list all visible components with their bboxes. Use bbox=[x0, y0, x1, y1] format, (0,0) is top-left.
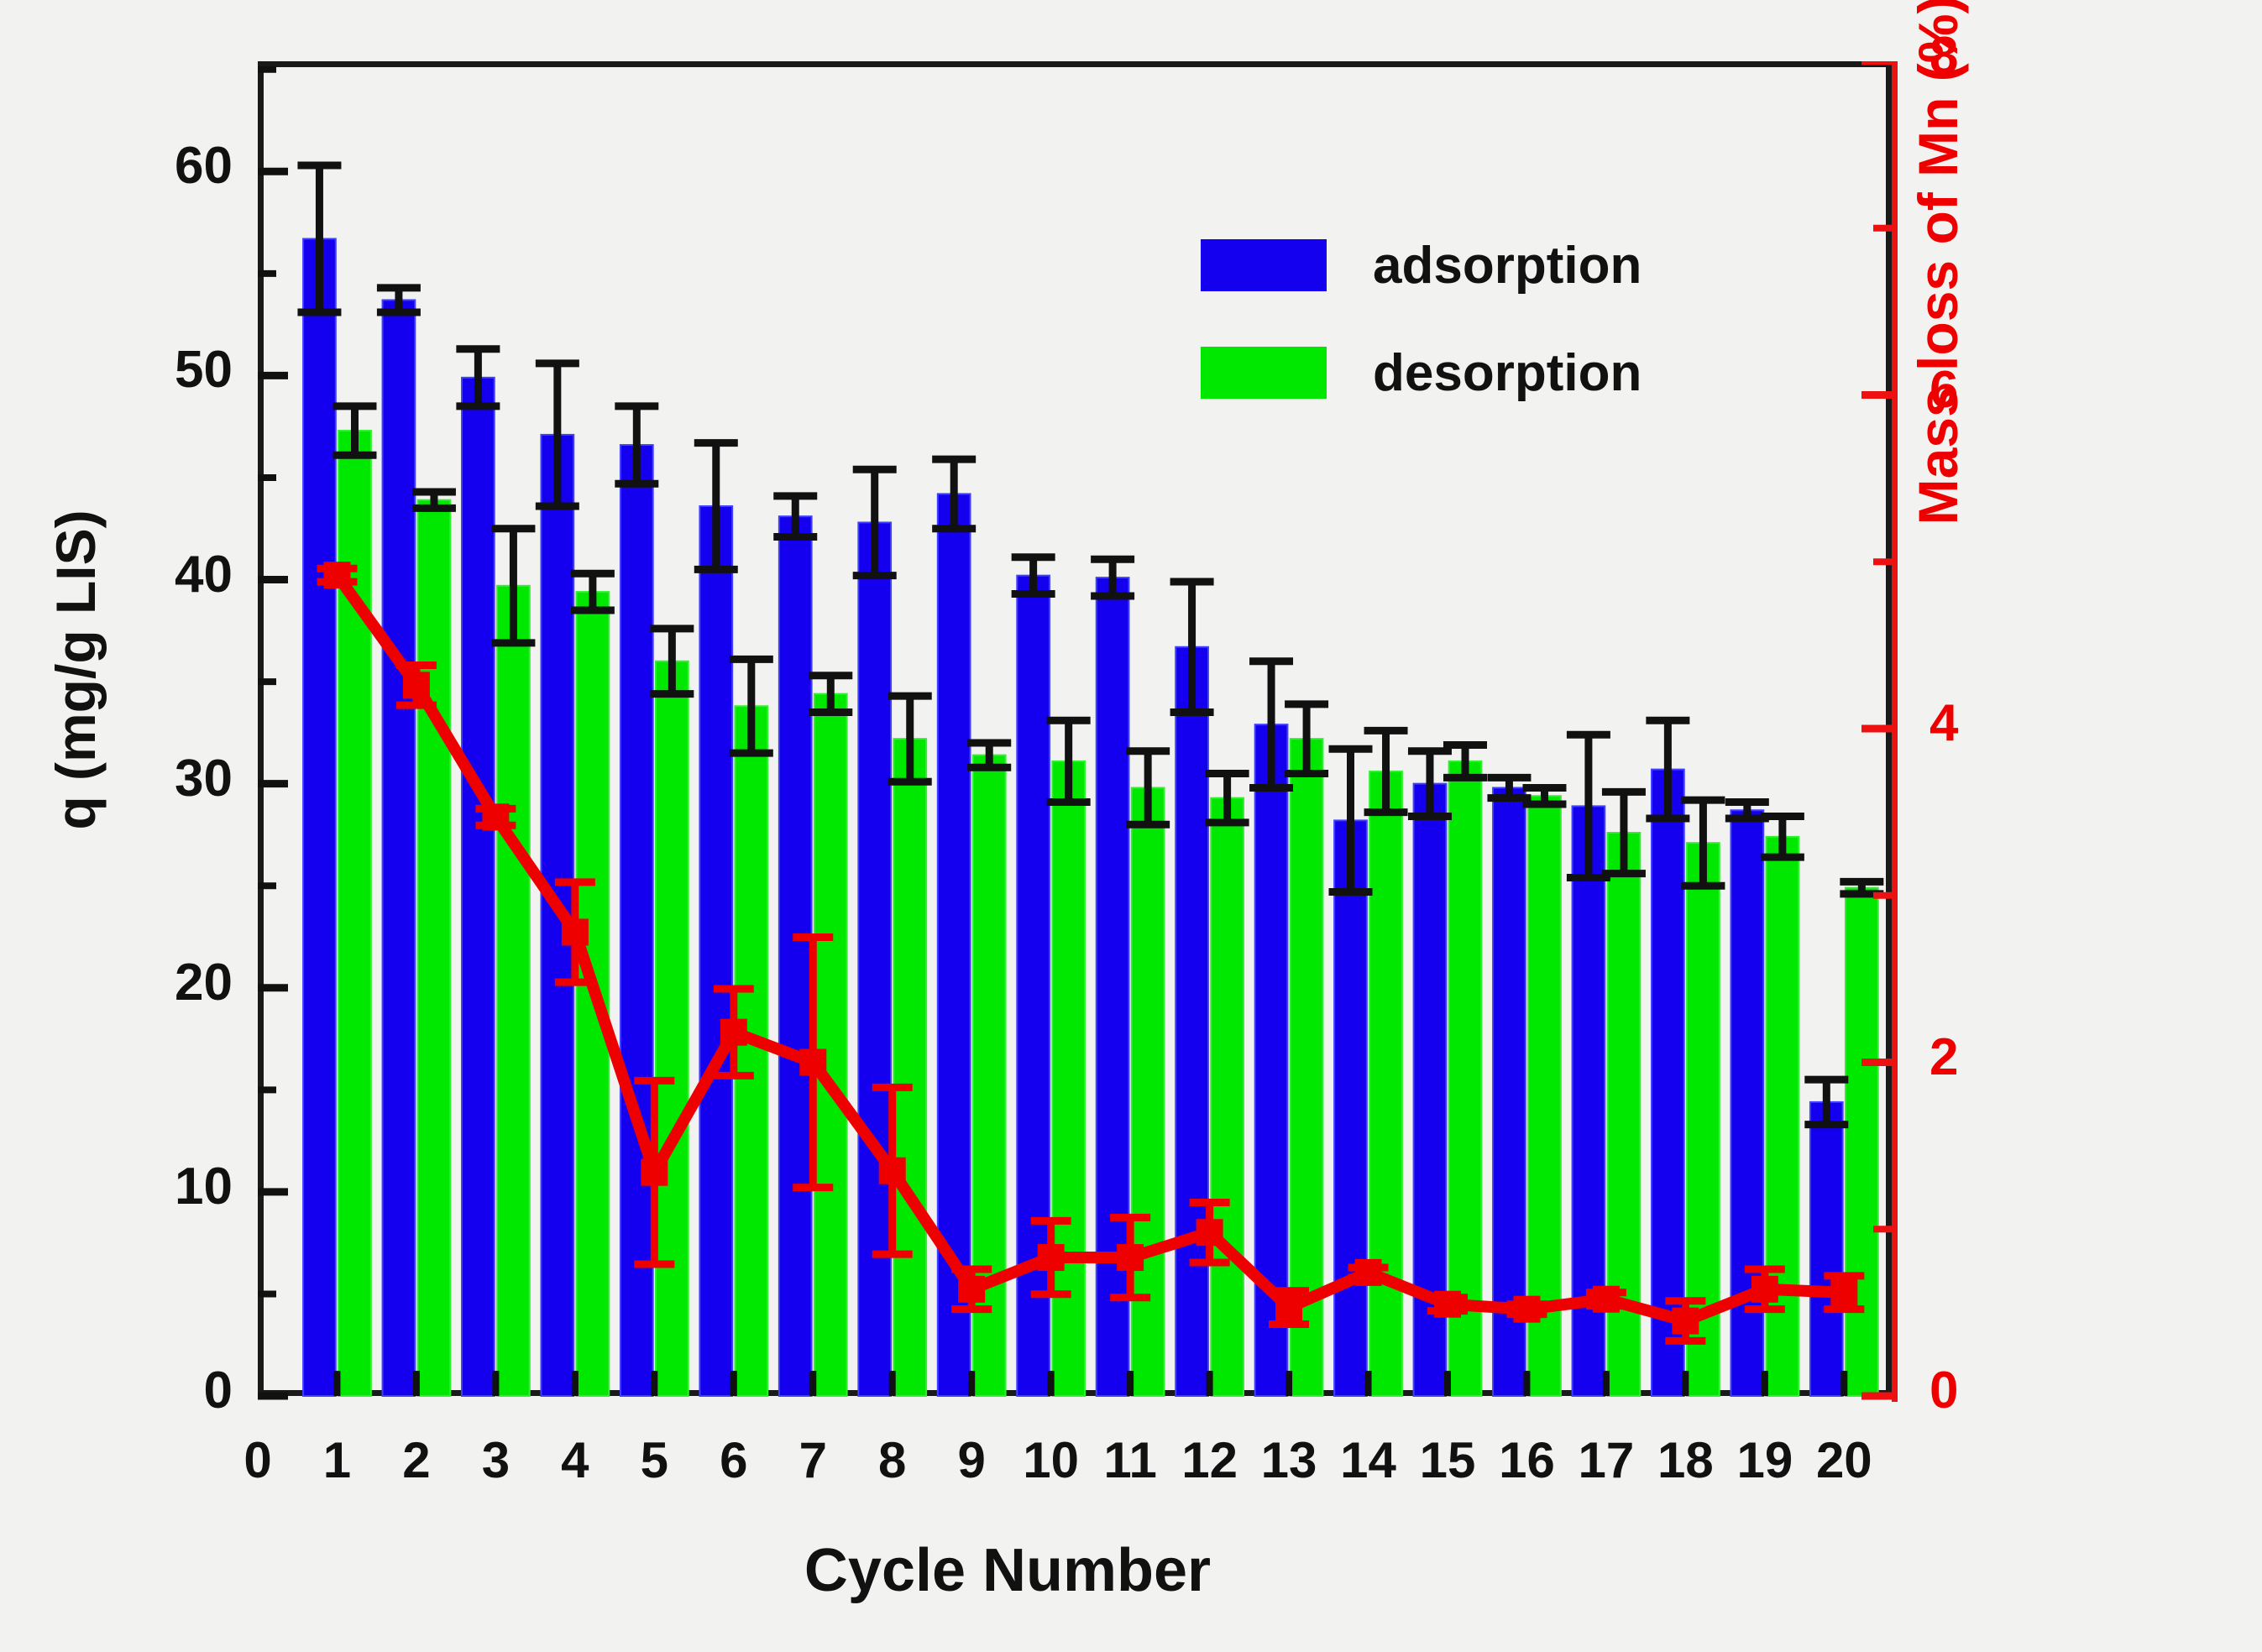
marker-mass-loss-of-mn bbox=[482, 803, 509, 830]
y2-axis-tick-label: 2 bbox=[1930, 1027, 2030, 1087]
y-axis-tick-label: 30 bbox=[81, 749, 233, 808]
bar-desorption bbox=[656, 661, 689, 1396]
marker-mass-loss-of-mn bbox=[403, 672, 430, 698]
legend-label-adsorption: adsorption bbox=[1373, 236, 1642, 295]
bar-adsorption bbox=[620, 445, 653, 1396]
marker-mass-loss-of-mn bbox=[1355, 1259, 1382, 1286]
bar-adsorption bbox=[1810, 1102, 1843, 1396]
bar-desorption bbox=[497, 586, 530, 1396]
bar-desorption bbox=[1369, 771, 1402, 1396]
bar-desorption bbox=[735, 706, 767, 1396]
bar-adsorption bbox=[779, 516, 812, 1396]
x-axis-title: Cycle Number bbox=[0, 1536, 2015, 1605]
y2-axis-tick-label: 8 bbox=[1930, 26, 2030, 86]
y-axis-tick-label: 10 bbox=[81, 1157, 233, 1216]
marker-mass-loss-of-mn bbox=[562, 918, 589, 945]
x-axis-tick-label: 20 bbox=[1785, 1431, 1903, 1489]
marker-mass-loss-of-mn bbox=[1593, 1286, 1620, 1313]
bar-desorption bbox=[418, 500, 451, 1396]
y-axis-tick-label: 40 bbox=[81, 545, 233, 604]
y2-axis-tick-label: 0 bbox=[1930, 1361, 2030, 1420]
y2-axis-tick-label: 4 bbox=[1930, 693, 2030, 753]
marker-mass-loss-of-mn bbox=[1196, 1219, 1223, 1246]
marker-mass-loss-of-mn bbox=[1672, 1308, 1699, 1335]
marker-mass-loss-of-mn bbox=[799, 1049, 826, 1076]
bar-adsorption bbox=[383, 300, 416, 1396]
marker-mass-loss-of-mn bbox=[1513, 1296, 1540, 1323]
legend-swatch-adsorption bbox=[1201, 239, 1327, 291]
bar-adsorption bbox=[1097, 578, 1129, 1396]
y-axis-left-title: q (mg/g LIS) bbox=[44, 334, 107, 1006]
bar-desorption bbox=[1132, 788, 1165, 1396]
marker-mass-loss-of-mn bbox=[1117, 1244, 1144, 1271]
bar-adsorption bbox=[462, 378, 495, 1396]
y2-axis-tick-label: 6 bbox=[1930, 360, 2030, 420]
y-axis-tick-label: 0 bbox=[81, 1361, 233, 1420]
bar-adsorption bbox=[1334, 820, 1367, 1396]
marker-mass-loss-of-mn bbox=[1275, 1294, 1302, 1321]
bar-desorption bbox=[1846, 888, 1878, 1396]
marker-mass-loss-of-mn bbox=[1038, 1244, 1065, 1271]
marker-mass-loss-of-mn bbox=[1751, 1276, 1778, 1303]
legend-label-desorption: desorption bbox=[1373, 343, 1642, 403]
marker-mass-loss-of-mn bbox=[879, 1158, 906, 1184]
chart-figure: q (mg/g LIS) Mass loss of Mn (%) Cycle N… bbox=[0, 0, 2262, 1652]
bar-adsorption bbox=[858, 522, 891, 1396]
y-axis-tick-label: 20 bbox=[81, 953, 233, 1012]
legend-swatch-desorption bbox=[1201, 347, 1327, 399]
y-axis-right-title: Mass loss of Mn (%) bbox=[1906, 0, 1970, 638]
bar-desorption bbox=[893, 739, 926, 1396]
bar-adsorption bbox=[1176, 647, 1208, 1396]
marker-mass-loss-of-mn bbox=[641, 1159, 668, 1186]
y-axis-tick-label: 50 bbox=[81, 340, 233, 400]
bar-adsorption bbox=[699, 506, 732, 1396]
bar-desorption bbox=[1211, 798, 1244, 1396]
y-axis-tick-label: 60 bbox=[81, 136, 233, 196]
marker-mass-loss-of-mn bbox=[1830, 1279, 1857, 1306]
bar-desorption bbox=[814, 694, 847, 1396]
plot-canvas bbox=[258, 61, 1898, 1402]
marker-mass-loss-of-mn bbox=[323, 562, 350, 588]
bar-desorption bbox=[1052, 761, 1085, 1396]
marker-mass-loss-of-mn bbox=[720, 1019, 747, 1046]
marker-mass-loss-of-mn bbox=[1434, 1291, 1461, 1318]
bar-adsorption bbox=[303, 239, 336, 1396]
marker-mass-loss-of-mn bbox=[958, 1276, 985, 1303]
